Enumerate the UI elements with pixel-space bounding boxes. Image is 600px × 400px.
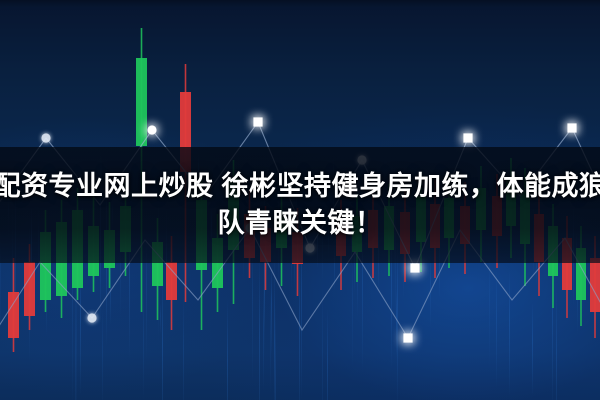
headline-line-2: 队青睐关键！ [218, 208, 383, 239]
headline-line-1: 配资专业网上炒股 徐彬坚持健身房加练，体能成狼 [0, 171, 600, 202]
banner-root: 配资专业网上炒股 徐彬坚持健身房加练，体能成狼 队青睐关键！ [0, 0, 600, 400]
headline-block: 配资专业网上炒股 徐彬坚持健身房加练，体能成狼 队青睐关键！ [0, 147, 600, 263]
top-edge-strip [0, 0, 600, 7]
